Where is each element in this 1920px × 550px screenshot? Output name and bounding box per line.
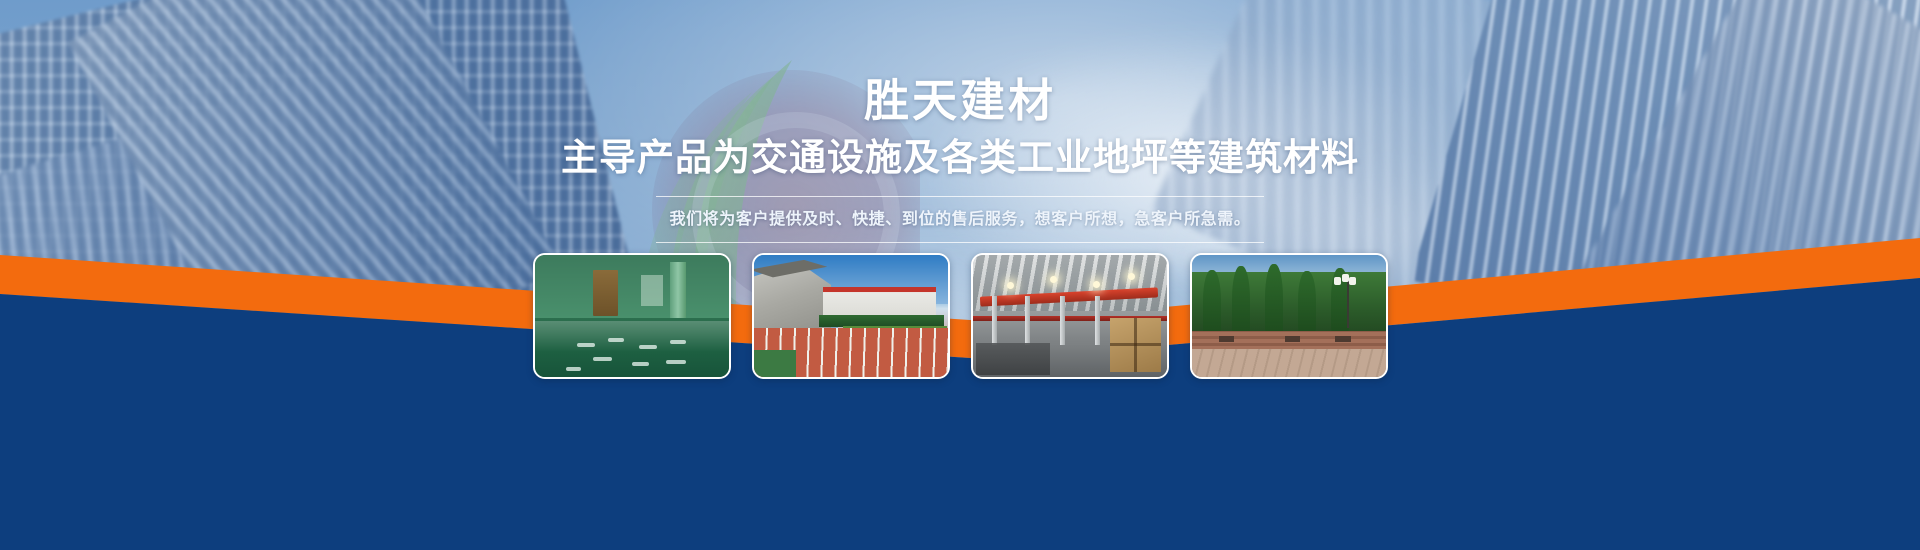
stamped-concrete-park-image — [1192, 255, 1386, 377]
banner-subtitle: 主导产品为交通设施及各类工业地坪等建筑材料 — [0, 134, 1920, 182]
divider-bottom — [656, 242, 1264, 243]
industrial-warehouse-image — [973, 255, 1167, 377]
hero-banner: 胜天建材 主导产品为交通设施及各类工业地坪等建筑材料 我们将为客户提供及时、快捷… — [0, 0, 1920, 550]
banner-copy: 胜天建材 主导产品为交通设施及各类工业地坪等建筑材料 我们将为客户提供及时、快捷… — [0, 74, 1920, 243]
thumbnail-green-epoxy-floor[interactable] — [533, 253, 731, 379]
thumbnail-strip — [0, 253, 1920, 379]
green-epoxy-floor-image — [535, 255, 729, 377]
thumbnail-stamped-concrete-park[interactable] — [1190, 253, 1388, 379]
thumbnail-running-track-stadium[interactable] — [752, 253, 950, 379]
divider-group: 我们将为客户提供及时、快捷、到位的售后服务，想客户所想，急客户所急需。 — [656, 196, 1264, 242]
divider-top — [656, 196, 1264, 197]
banner-title: 胜天建材 — [0, 74, 1920, 127]
banner-description: 我们将为客户提供及时、快捷、到位的售后服务，想客户所想，急客户所急需。 — [656, 208, 1264, 230]
thumbnail-industrial-warehouse[interactable] — [971, 253, 1169, 379]
running-track-stadium-image — [754, 255, 948, 377]
